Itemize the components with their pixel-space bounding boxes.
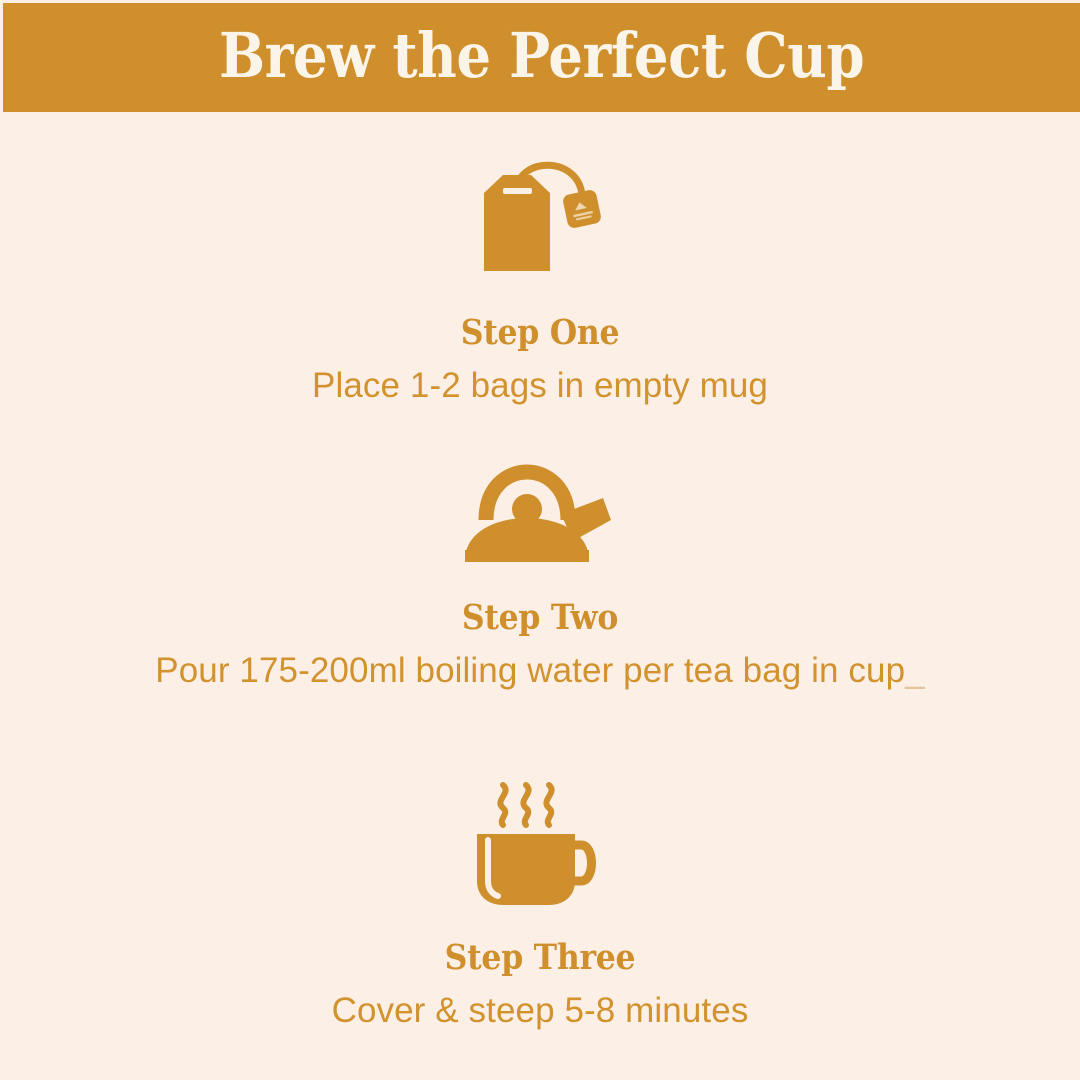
kettle-icon-wrap — [0, 427, 1080, 572]
step-two-description-text: Pour 175-200ml boiling water per tea bag… — [155, 651, 905, 690]
step-two-description: Pour 175-200ml boiling water per tea bag… — [0, 649, 1080, 694]
steps-container: Step One Place 1-2 bags in empty mug Ste… — [0, 112, 1080, 1080]
step-three-label: Step Three — [54, 940, 1026, 975]
kettle-icon — [453, 442, 628, 572]
step-one: Step One Place 1-2 bags in empty mug — [0, 142, 1080, 409]
step-three: Step Three Cover & steep 5-8 minutes — [0, 767, 1080, 1034]
step-one-description: Place 1-2 bags in empty mug — [0, 364, 1080, 409]
step-two-label: Step Two — [54, 600, 1026, 635]
steaming-mug-icon-wrap — [0, 767, 1080, 912]
step-three-description: Cover & steep 5-8 minutes — [0, 989, 1080, 1034]
tea-bag-icon — [460, 147, 620, 287]
step-one-label: Step One — [54, 315, 1026, 350]
header-bar: Brew the Perfect Cup — [0, 0, 1080, 112]
step-two: Step Two Pour 175-200ml boiling water pe… — [0, 427, 1080, 694]
step-two-trailing-artifact: _ — [905, 651, 925, 690]
tea-bag-icon-wrap — [0, 142, 1080, 287]
steaming-mug-icon — [463, 777, 618, 912]
page-title: Brew the Perfect Cup — [219, 25, 864, 87]
